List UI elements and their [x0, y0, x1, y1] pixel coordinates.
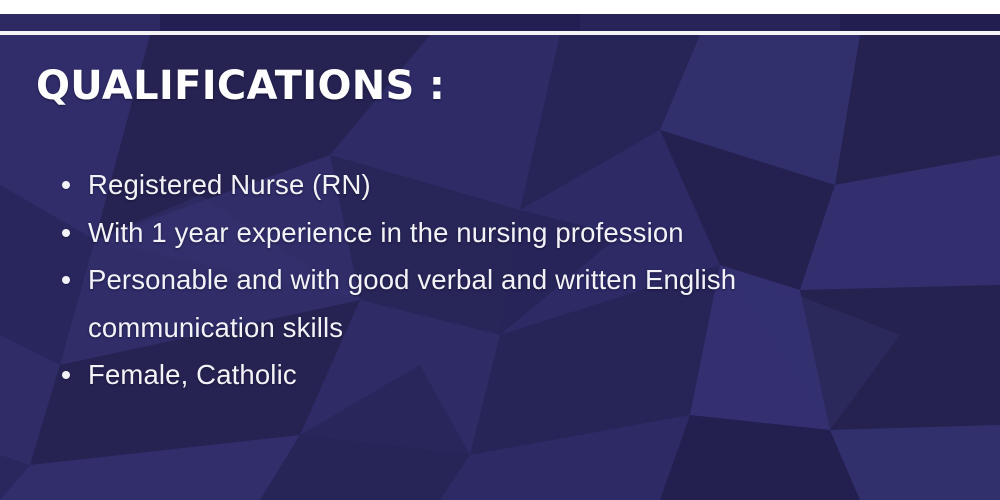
bullet-dot-icon: [62, 181, 70, 189]
bullet-dot-icon: [62, 276, 70, 284]
list-item: Female, Catholic: [58, 351, 958, 399]
top-navy-band: [0, 14, 1000, 31]
list-item-label: Female, Catholic: [88, 359, 297, 390]
list-item-label: Registered Nurse (RN): [88, 169, 371, 200]
qualifications-slide: QUALIFICATIONS : Registered Nurse (RN) W…: [0, 0, 1000, 500]
band-facet: [160, 14, 580, 31]
list-item: Registered Nurse (RN): [58, 161, 958, 209]
slide-content: QUALIFICATIONS : Registered Nurse (RN) W…: [0, 35, 1000, 500]
list-item-label: Personable and with good verbal and writ…: [88, 264, 736, 343]
list-item-label: With 1 year experience in the nursing pr…: [88, 217, 684, 248]
band-facet: [840, 14, 1000, 31]
bullet-dot-icon: [62, 229, 70, 237]
top-white-strip: [0, 0, 1000, 14]
bullet-dot-icon: [62, 371, 70, 379]
list-item: With 1 year experience in the nursing pr…: [58, 209, 958, 257]
list-item: Personable and with good verbal and writ…: [58, 256, 903, 351]
band-facet: [0, 14, 160, 31]
band-facet: [580, 14, 840, 31]
qualifications-list: Registered Nurse (RN) With 1 year experi…: [58, 161, 958, 399]
page-title: QUALIFICATIONS :: [36, 63, 445, 109]
